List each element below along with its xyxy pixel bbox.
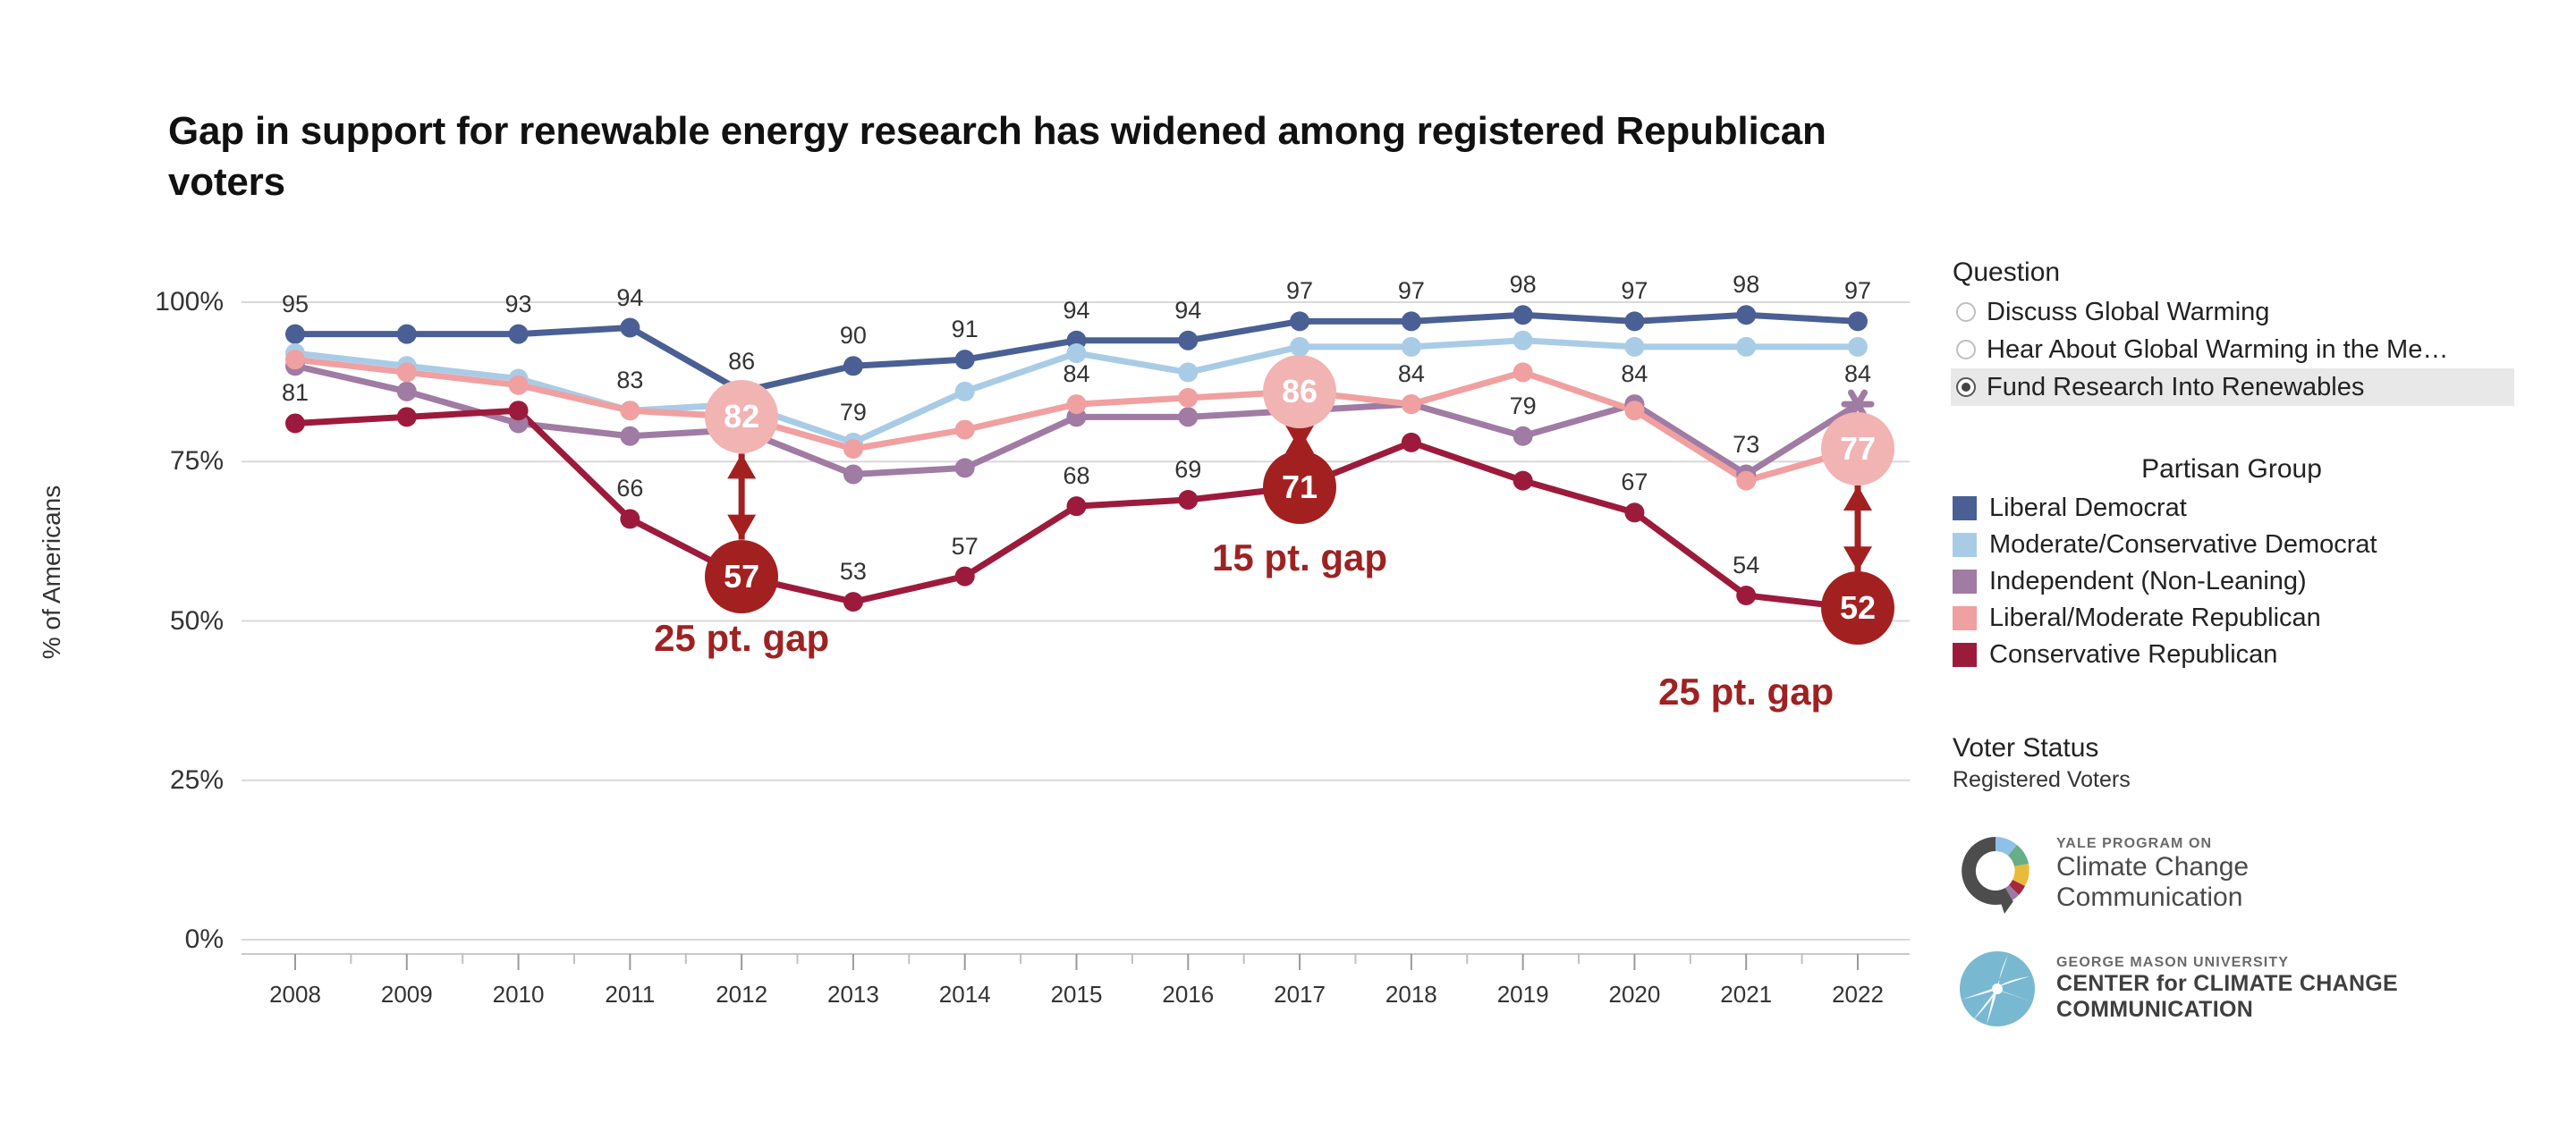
gmu-swirl-icon xyxy=(1954,946,2040,1032)
gmu-logo-line1: GEORGE MASON UNIVERSITY xyxy=(2056,955,2398,971)
point-label: 73 xyxy=(1706,431,1786,459)
point-label: 79 xyxy=(813,399,894,426)
y-tick-75%: 75% xyxy=(116,446,224,477)
point-label: 81 xyxy=(255,379,335,407)
point-label: 91 xyxy=(925,316,1005,343)
legend-item-label: Conservative Republican xyxy=(1989,640,2277,670)
gmu-logo-line2: CENTER for CLIMATE CHANGE xyxy=(2056,971,2398,998)
legend-title: Partisan Group xyxy=(1945,454,2518,485)
x-tick-2022: 2022 xyxy=(1795,981,1920,1009)
radio-button-icon[interactable] xyxy=(1956,377,1976,397)
point-label: 93 xyxy=(479,291,559,318)
point-label: 97 xyxy=(1371,277,1452,305)
x-tick-2008: 2008 xyxy=(233,981,358,1009)
legend-color-swatch xyxy=(1953,570,1977,594)
x-tick-2013: 2013 xyxy=(791,981,916,1009)
yale-logo-line1: YALE PROGRAM ON xyxy=(2056,836,2249,852)
legend-color-swatch xyxy=(1953,496,1977,520)
highlight-bubble-2017-86: 86 xyxy=(1263,355,1336,428)
question-option-label: Hear About Global Warming in the Me… xyxy=(1987,335,2448,365)
point-label: 84 xyxy=(1037,360,1117,388)
x-tick-2021: 2021 xyxy=(1683,981,1809,1009)
yale-donut-icon xyxy=(1954,830,2040,919)
point-label: 94 xyxy=(1037,297,1117,325)
gap-annotation: 25 pt. gap xyxy=(654,617,829,660)
question-option-1[interactable]: Hear About Global Warming in the Me… xyxy=(1951,331,2514,368)
radio-button-icon[interactable] xyxy=(1956,340,1976,359)
point-label: 97 xyxy=(1594,277,1674,305)
point-label: 84 xyxy=(1818,360,1898,388)
legend-color-swatch xyxy=(1953,643,1977,667)
x-tick-2017: 2017 xyxy=(1237,981,1362,1009)
highlight-bubble-2017-71: 71 xyxy=(1263,451,1336,524)
y-tick-50%: 50% xyxy=(116,606,224,637)
chart-container: % of Americans 0%25%50%75%100% 200820092… xyxy=(0,0,1968,1037)
gap-annotation: 15 pt. gap xyxy=(1212,536,1387,579)
legend-item-label: Liberal/Moderate Republican xyxy=(1989,604,2321,633)
x-tick-2019: 2019 xyxy=(1461,981,1586,1009)
legend-item-3[interactable]: Liberal/Moderate Republican xyxy=(1953,600,2377,637)
point-label: 98 xyxy=(1483,271,1563,299)
yale-logo-line2: Climate Change xyxy=(2056,852,2249,882)
question-radio-group[interactable]: Discuss Global WarmingHear About Global … xyxy=(1951,293,2514,406)
point-label: 69 xyxy=(1148,456,1228,484)
point-label: 95 xyxy=(255,291,335,318)
y-tick-100%: 100% xyxy=(116,287,224,317)
highlight-bubble-2022-52: 52 xyxy=(1821,571,1894,645)
point-label: 66 xyxy=(589,475,670,502)
point-label: 84 xyxy=(1594,360,1674,388)
yale-logo-line3: Communication xyxy=(2056,882,2249,913)
voter-status-value: Registered Voters xyxy=(1953,767,2131,793)
radio-button-icon[interactable] xyxy=(1956,302,1976,322)
gap-annotation: 25 pt. gap xyxy=(1658,671,1834,713)
point-label: 84 xyxy=(1371,360,1452,388)
highlight-bubble-2012-57: 57 xyxy=(705,540,778,613)
x-tick-2010: 2010 xyxy=(456,981,581,1009)
point-label: 94 xyxy=(1148,297,1228,325)
legend-item-label: Independent (Non-Leaning) xyxy=(1989,567,2307,596)
x-tick-2009: 2009 xyxy=(344,981,470,1009)
point-label: 54 xyxy=(1706,552,1786,579)
x-tick-2014: 2014 xyxy=(902,981,1028,1009)
point-label: 53 xyxy=(813,558,894,586)
chart-plot xyxy=(0,0,1968,1037)
x-tick-2020: 2020 xyxy=(1572,981,1697,1009)
point-label: 67 xyxy=(1594,468,1674,496)
gmu-logo-line3: COMMUNICATION xyxy=(2056,997,2398,1024)
question-option-label: Discuss Global Warming xyxy=(1987,298,2269,327)
voter-status-title: Voter Status xyxy=(1953,733,2098,764)
legend-item-4[interactable]: Conservative Republican xyxy=(1953,637,2377,673)
point-label: 97 xyxy=(1818,277,1898,305)
y-tick-25%: 25% xyxy=(116,765,224,796)
side-panel: Question Discuss Global WarmingHear Abou… xyxy=(1945,0,2576,1148)
legend-color-swatch xyxy=(1953,606,1977,630)
legend-item-label: Moderate/Conservative Democrat xyxy=(1989,530,2377,560)
question-title: Question xyxy=(1953,257,2060,288)
legend-item-label: Liberal Democrat xyxy=(1989,494,2187,523)
chart-axis-ticks xyxy=(241,954,1910,970)
x-tick-2011: 2011 xyxy=(567,981,692,1009)
highlight-bubble-2012-82: 82 xyxy=(705,380,778,453)
point-label: 57 xyxy=(925,533,1005,561)
yale-logo: YALE PROGRAM ON Climate Change Communica… xyxy=(1954,830,2249,919)
gmu-logo: GEORGE MASON UNIVERSITY CENTER for CLIMA… xyxy=(1954,946,2398,1032)
partisan-group-legend: Liberal DemocratModerate/Conservative De… xyxy=(1953,490,2377,673)
legend-color-swatch xyxy=(1953,533,1977,557)
point-label: 90 xyxy=(813,322,894,350)
x-tick-2012: 2012 xyxy=(679,981,804,1009)
y-tick-0%: 0% xyxy=(116,924,224,955)
point-label: 86 xyxy=(701,348,782,376)
point-label: 98 xyxy=(1706,271,1786,299)
point-label: 83 xyxy=(589,367,670,394)
legend-item-0[interactable]: Liberal Democrat xyxy=(1953,490,2377,527)
question-option-0[interactable]: Discuss Global Warming xyxy=(1951,293,2514,331)
y-axis-label: % of Americans xyxy=(38,485,66,660)
point-label: 97 xyxy=(1259,277,1340,305)
point-label: 68 xyxy=(1037,462,1117,490)
point-label: 79 xyxy=(1483,393,1563,420)
question-option-2[interactable]: Fund Research Into Renewables xyxy=(1951,368,2514,406)
point-label: 94 xyxy=(589,284,670,312)
legend-item-2[interactable]: Independent (Non-Leaning) xyxy=(1953,563,2377,600)
x-tick-2018: 2018 xyxy=(1349,981,1474,1009)
x-tick-2016: 2016 xyxy=(1125,981,1250,1009)
legend-item-1[interactable]: Moderate/Conservative Democrat xyxy=(1953,527,2377,563)
x-tick-2015: 2015 xyxy=(1014,981,1140,1009)
highlight-bubble-2022-77: 77 xyxy=(1821,412,1894,485)
question-option-label: Fund Research Into Renewables xyxy=(1987,373,2364,402)
